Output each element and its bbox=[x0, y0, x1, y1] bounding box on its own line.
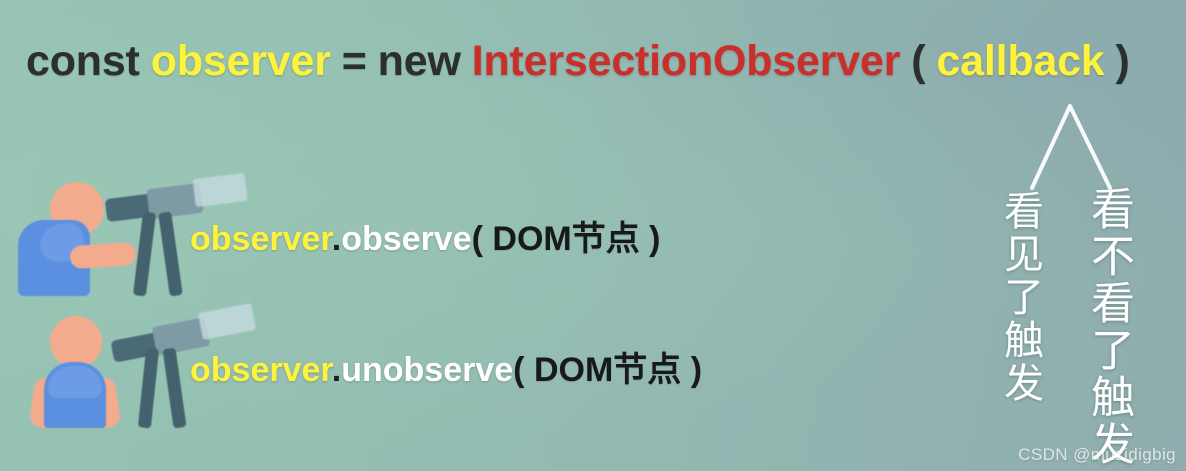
page-title: constobserver=newIntersectionObserver(ca… bbox=[26, 40, 1130, 83]
person-arm-icon bbox=[69, 242, 136, 270]
unobserve-object: observer bbox=[190, 351, 332, 389]
telescope-leg-left-icon bbox=[138, 348, 159, 429]
code-line-unobserve: observer.unobserve( DOM节点 ) bbox=[190, 353, 702, 387]
unobserve-dot: . bbox=[332, 351, 341, 389]
observe-object: observer bbox=[190, 220, 332, 258]
label-visible-triggers: 看见了触发 bbox=[1000, 190, 1040, 405]
person-head-icon bbox=[50, 316, 102, 368]
headline-token-close-paren: ) bbox=[1116, 37, 1130, 85]
telescope-leg-right-icon bbox=[158, 212, 183, 297]
unobserve-method: unobserve bbox=[341, 351, 513, 389]
observe-args: ( DOM节点 ) bbox=[472, 220, 661, 258]
telescope-leg-right-icon bbox=[162, 347, 186, 428]
headline-token-open-paren: ( bbox=[911, 37, 925, 85]
headline-token-callback: callback bbox=[936, 37, 1104, 85]
observe-dot: . bbox=[332, 220, 341, 258]
watermark: CSDN @muzidigbig bbox=[1018, 445, 1176, 465]
callback-branch-arrow-icon bbox=[1000, 95, 1150, 195]
label-not-visible-triggers: 看不看了触发 bbox=[1086, 186, 1130, 468]
headline-token-equals: = bbox=[342, 37, 367, 85]
headline-token-const: const bbox=[26, 37, 140, 85]
telescope-lens-icon bbox=[192, 173, 247, 207]
slide-canvas: constobserver=newIntersectionObserver(ca… bbox=[0, 0, 1186, 471]
telescope-leg-left-icon bbox=[133, 212, 156, 297]
telescope-lens-icon bbox=[198, 303, 256, 340]
headline-token-new: new bbox=[378, 37, 461, 85]
unobserve-args: ( DOM节点 ) bbox=[513, 351, 702, 389]
headline-token-intersectionobserver: IntersectionObserver bbox=[472, 37, 901, 85]
code-line-observe: observer.observe( DOM节点 ) bbox=[190, 222, 660, 256]
person-shoulder-icon bbox=[48, 366, 102, 398]
headline-token-observer: observer bbox=[151, 37, 331, 85]
observe-method: observe bbox=[341, 220, 471, 258]
